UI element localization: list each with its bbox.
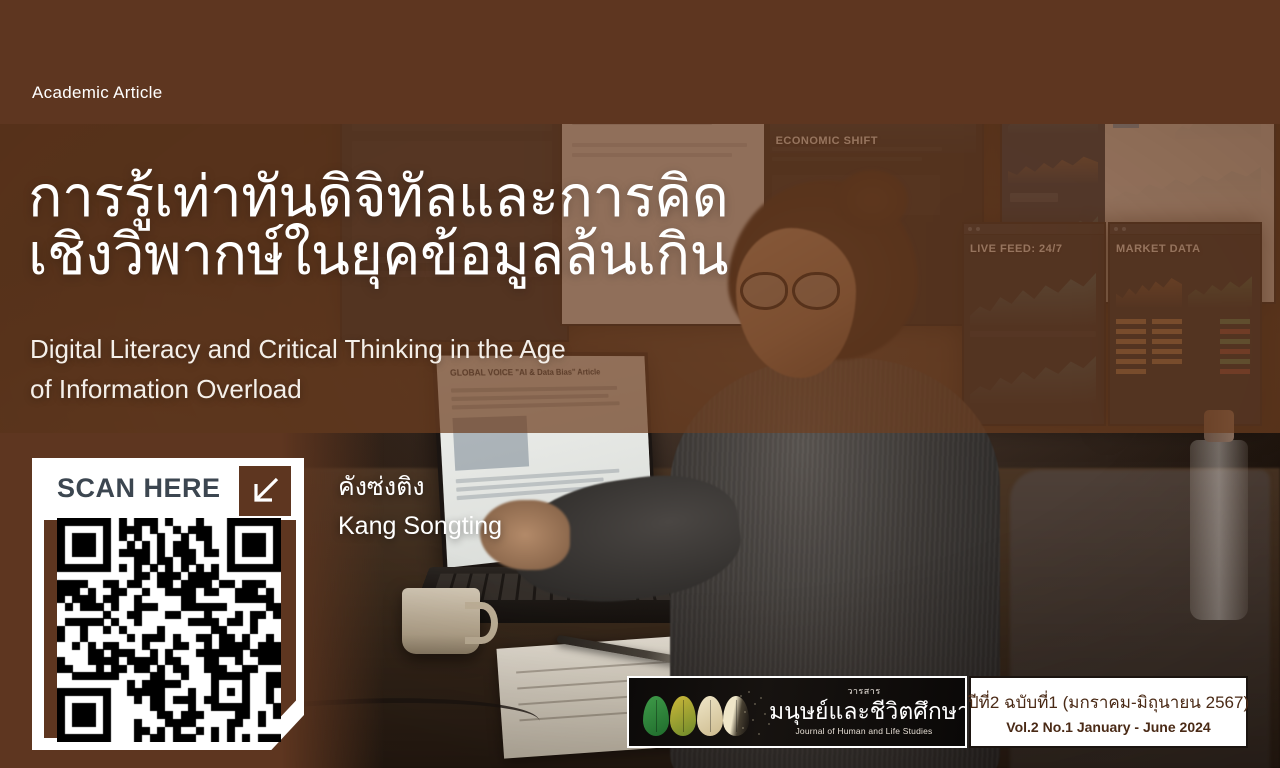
leaves-icon — [643, 690, 753, 738]
article-cover: LIVE ECONOMIC SHIFT — [0, 0, 1280, 768]
author-block: คังซ่งติง Kang Songting — [338, 468, 502, 546]
top-color-band — [0, 0, 1280, 124]
title-thai-line-1: การรู้เท่าทันดิจิทัลและการคิด — [28, 168, 728, 226]
author-name-thai: คังซ่งติง — [338, 468, 502, 507]
title-english-line-2: of Information Overload — [30, 370, 566, 410]
title-thai-line-2: เชิงวิพากษ์ในยุคข้อมูลล้นเกิน — [28, 226, 728, 284]
arrow-down-left-icon — [239, 466, 291, 516]
issue-english: Vol.2 No.1 January - June 2024 — [1006, 719, 1210, 735]
journal-logo-panel: วารสาร มนุษย์และชีวิตศึกษา Journal of Hu… — [627, 676, 967, 748]
journal-name-thai: มนุษย์และชีวิตศึกษา — [769, 698, 959, 724]
author-name-english: Kang Songting — [338, 507, 502, 546]
journal-prefix-thai: วารสาร — [769, 684, 959, 698]
title-thai: การรู้เท่าทันดิจิทัลและการคิด เชิงวิพากษ… — [28, 168, 728, 284]
title-english: Digital Literacy and Critical Thinking i… — [30, 330, 566, 409]
journal-name-english: Journal of Human and Life Studies — [769, 726, 959, 736]
scan-here-label: SCAN HERE — [57, 473, 221, 504]
journal-issue-panel: ปีที่2 ฉบับที่1 (มกราคม-มิถุนายน 2567) V… — [969, 676, 1248, 748]
issue-thai: ปีที่2 ฉบับที่1 (มกราคม-มิถุนายน 2567) — [968, 689, 1249, 716]
title-english-line-1: Digital Literacy and Critical Thinking i… — [30, 330, 566, 370]
qr-code[interactable] — [57, 518, 281, 742]
article-type-label: Academic Article — [32, 83, 162, 103]
